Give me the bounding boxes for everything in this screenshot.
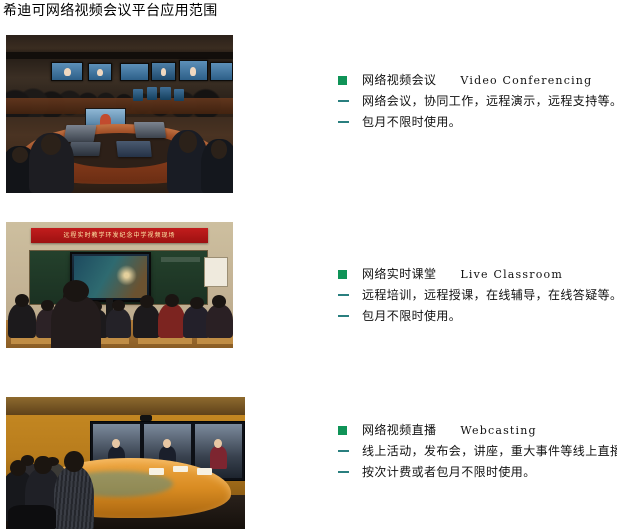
attendee-head	[41, 134, 61, 154]
feature-bullet-text: 包月不限时使用。	[362, 306, 461, 327]
feature-heading-cn: 网络实时课堂	[362, 264, 436, 285]
remote-participant	[210, 446, 227, 469]
feature-heading-cn: 网络视频直播	[362, 420, 436, 441]
remote-participant	[161, 68, 166, 76]
wall-trim	[6, 52, 233, 58]
document	[197, 468, 211, 475]
webcasting-telepresence-photo	[6, 397, 245, 529]
feature-block-webcasting: 网络视频直播 Webcasting 线上活动，发布会，讲座，重大事件等线上直播。…	[338, 420, 614, 483]
student-head	[212, 295, 226, 308]
feature-heading: 网络视频会议 Video Conferencing	[338, 70, 614, 91]
wall-poster	[204, 257, 229, 287]
live-classroom-photo: 远程实时教学环发纪念中学视频现场	[6, 222, 233, 348]
remote-participant	[97, 69, 102, 76]
document	[173, 466, 187, 473]
attendee	[201, 139, 233, 193]
feature-heading-en: Webcasting	[460, 420, 536, 441]
feature-bullet: 包月不限时使用。	[338, 112, 614, 133]
feature-bullet-text: 按次计费或者包月不限时使用。	[362, 462, 536, 483]
student	[106, 308, 131, 338]
feature-heading: 网络实时课堂 Live Classroom	[338, 264, 614, 285]
student-head	[190, 297, 204, 309]
desktop-monitor	[133, 89, 143, 102]
student	[133, 304, 160, 338]
attendee-head	[211, 140, 227, 158]
student-head	[165, 294, 179, 307]
dash-bullet-icon	[338, 462, 362, 483]
student-head	[63, 280, 89, 302]
feature-block-video-conferencing: 网络视频会议 Video Conferencing 网络会议，协同工作，远程演示…	[338, 70, 614, 133]
chalk-writing	[161, 257, 200, 262]
ceiling	[6, 397, 245, 415]
feature-bullet: 网络会议，协同工作，远程演示，远程支持等。	[338, 91, 614, 112]
student	[8, 303, 35, 338]
red-banner: 远程实时教学环发纪念中学视频现场	[31, 228, 208, 243]
feature-bullet: 远程培训，远程授课，在线辅导，在线答疑等。	[338, 285, 614, 306]
dash-bullet-icon	[338, 91, 362, 112]
attendee-head	[12, 147, 28, 163]
feature-heading-cn: 网络视频会议	[362, 70, 436, 91]
video-conference-room-photo	[6, 35, 233, 193]
laptop	[134, 122, 166, 138]
feature-bullet: 按次计费或者包月不限时使用。	[338, 462, 614, 483]
wall-monitor	[210, 62, 232, 81]
wall-monitor	[88, 63, 113, 81]
square-bullet-icon	[338, 264, 362, 285]
attendee-head	[10, 460, 26, 476]
desktop-monitor	[160, 87, 170, 100]
remote-participant	[190, 67, 197, 76]
student-head	[112, 300, 125, 311]
desktop-monitor	[174, 89, 184, 102]
student-head	[15, 294, 29, 307]
attendee-head	[179, 131, 197, 152]
attendee	[29, 133, 74, 193]
student-head	[140, 295, 154, 308]
student-foreground	[51, 295, 101, 348]
wall-monitor	[51, 62, 83, 81]
square-bullet-icon	[338, 420, 362, 441]
document	[149, 468, 163, 475]
feature-bullet-text: 远程培训，远程授课，在线辅导，在线答疑等。	[362, 285, 617, 306]
student	[206, 304, 233, 338]
laptop	[116, 141, 152, 157]
photo-scene	[6, 35, 233, 193]
feature-bullet-text: 线上活动，发布会，讲座，重大事件等线上直播。	[362, 441, 617, 462]
feature-bullet-text: 网络会议，协同工作，远程演示，远程支持等。	[362, 91, 617, 112]
feature-bullet: 包月不限时使用。	[338, 306, 614, 327]
student	[158, 303, 185, 338]
laptop	[64, 125, 96, 142]
dash-bullet-icon	[338, 112, 362, 133]
dash-bullet-icon	[338, 285, 362, 306]
wall-monitor	[179, 60, 208, 81]
dash-bullet-icon	[338, 441, 362, 462]
photo-scene: 远程实时教学环发纪念中学视频现场	[6, 222, 233, 348]
desktop-monitor	[147, 87, 157, 100]
office-chair	[8, 505, 56, 529]
feature-bullet-text: 包月不限时使用。	[362, 112, 461, 133]
feature-heading-en: Video Conferencing	[460, 70, 592, 91]
feature-bullet: 线上活动，发布会，讲座，重大事件等线上直播。	[338, 441, 614, 462]
banner-text: 远程实时教学环发纪念中学视频现场	[31, 228, 208, 243]
remote-participant	[64, 68, 71, 76]
feature-heading: 网络视频直播 Webcasting	[338, 420, 614, 441]
attendee-head	[64, 451, 84, 472]
page-title: 希迪可网络视频会议平台应用范围	[3, 2, 218, 20]
wall-monitor	[120, 63, 149, 81]
attendee-head	[34, 456, 51, 475]
wall-monitor	[151, 62, 176, 81]
square-bullet-icon	[338, 70, 362, 91]
feature-block-live-classroom: 网络实时课堂 Live Classroom 远程培训，远程授课，在线辅导，在线答…	[338, 264, 614, 327]
feature-heading-en: Live Classroom	[460, 264, 563, 285]
dash-bullet-icon	[338, 306, 362, 327]
photo-scene	[6, 397, 245, 529]
attendee	[54, 466, 95, 529]
